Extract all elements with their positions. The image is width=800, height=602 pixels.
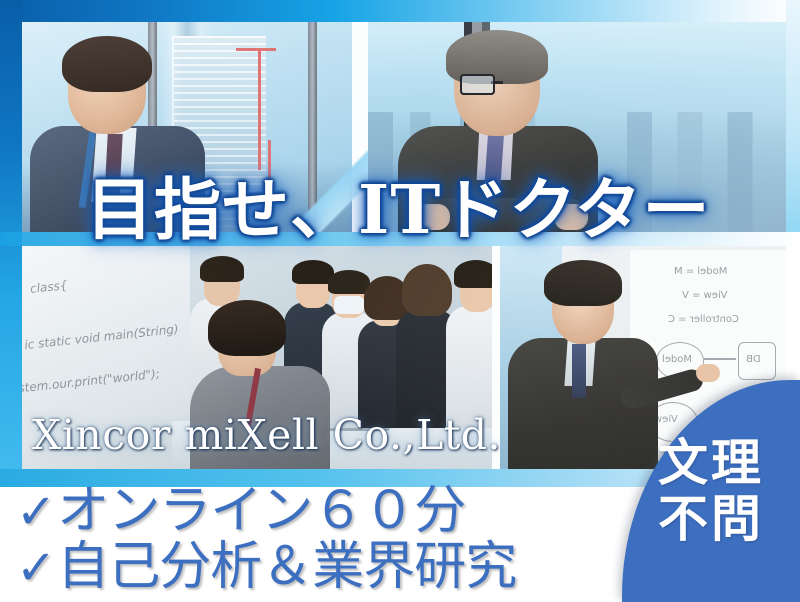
mvc-node-model-label: Model [662,354,692,365]
instructor-hand [696,364,720,382]
list-item: ✓オンライン６０分 [16,484,516,540]
frame-right-gradient [786,0,800,240]
colleague-6-hair [454,260,492,288]
feature-list: ✓オンライン６０分 ✓自己分析＆業界研究 [16,484,516,595]
badge-line-1: 文理 [658,435,764,491]
check-icon: ✓ [16,484,57,540]
person-hair [62,36,152,92]
instructor-necktie [572,344,586,398]
mvc-node-db-label: DB [746,354,761,365]
mvc-line-model: Model = M [674,266,727,277]
badge-line-2: 不問 [658,491,764,547]
instructor-hair [544,260,622,306]
mvc-line-controller: Controller = C [668,314,739,325]
colleague-1-hair [200,256,244,282]
list-item-label: 自己分析＆業界研究 [57,537,516,597]
mvc-line-view: View = V [682,290,727,301]
colleague-6-torso [446,306,492,428]
glasses-icon [460,74,534,91]
list-item-label: オンライン６０分 [57,481,465,541]
colleague-5-hair [402,264,452,316]
recruitment-poster: class{ ic static void main(String) stem.… [0,0,800,602]
mvc-arrow [704,358,736,360]
colleague-3-hair [328,270,370,294]
face-mask-icon [334,296,364,314]
crane-mast [258,50,261,170]
check-icon: ✓ [16,540,57,596]
foreground-person-hair [208,300,286,356]
crane-jib [236,48,276,51]
list-item: ✓自己分析＆業界研究 [16,540,516,596]
frame-top-gradient [0,0,800,22]
company-name: Xincor miXell Co.,Ltd. [32,415,501,456]
page-title: 目指せ、ITドクター [86,176,711,243]
